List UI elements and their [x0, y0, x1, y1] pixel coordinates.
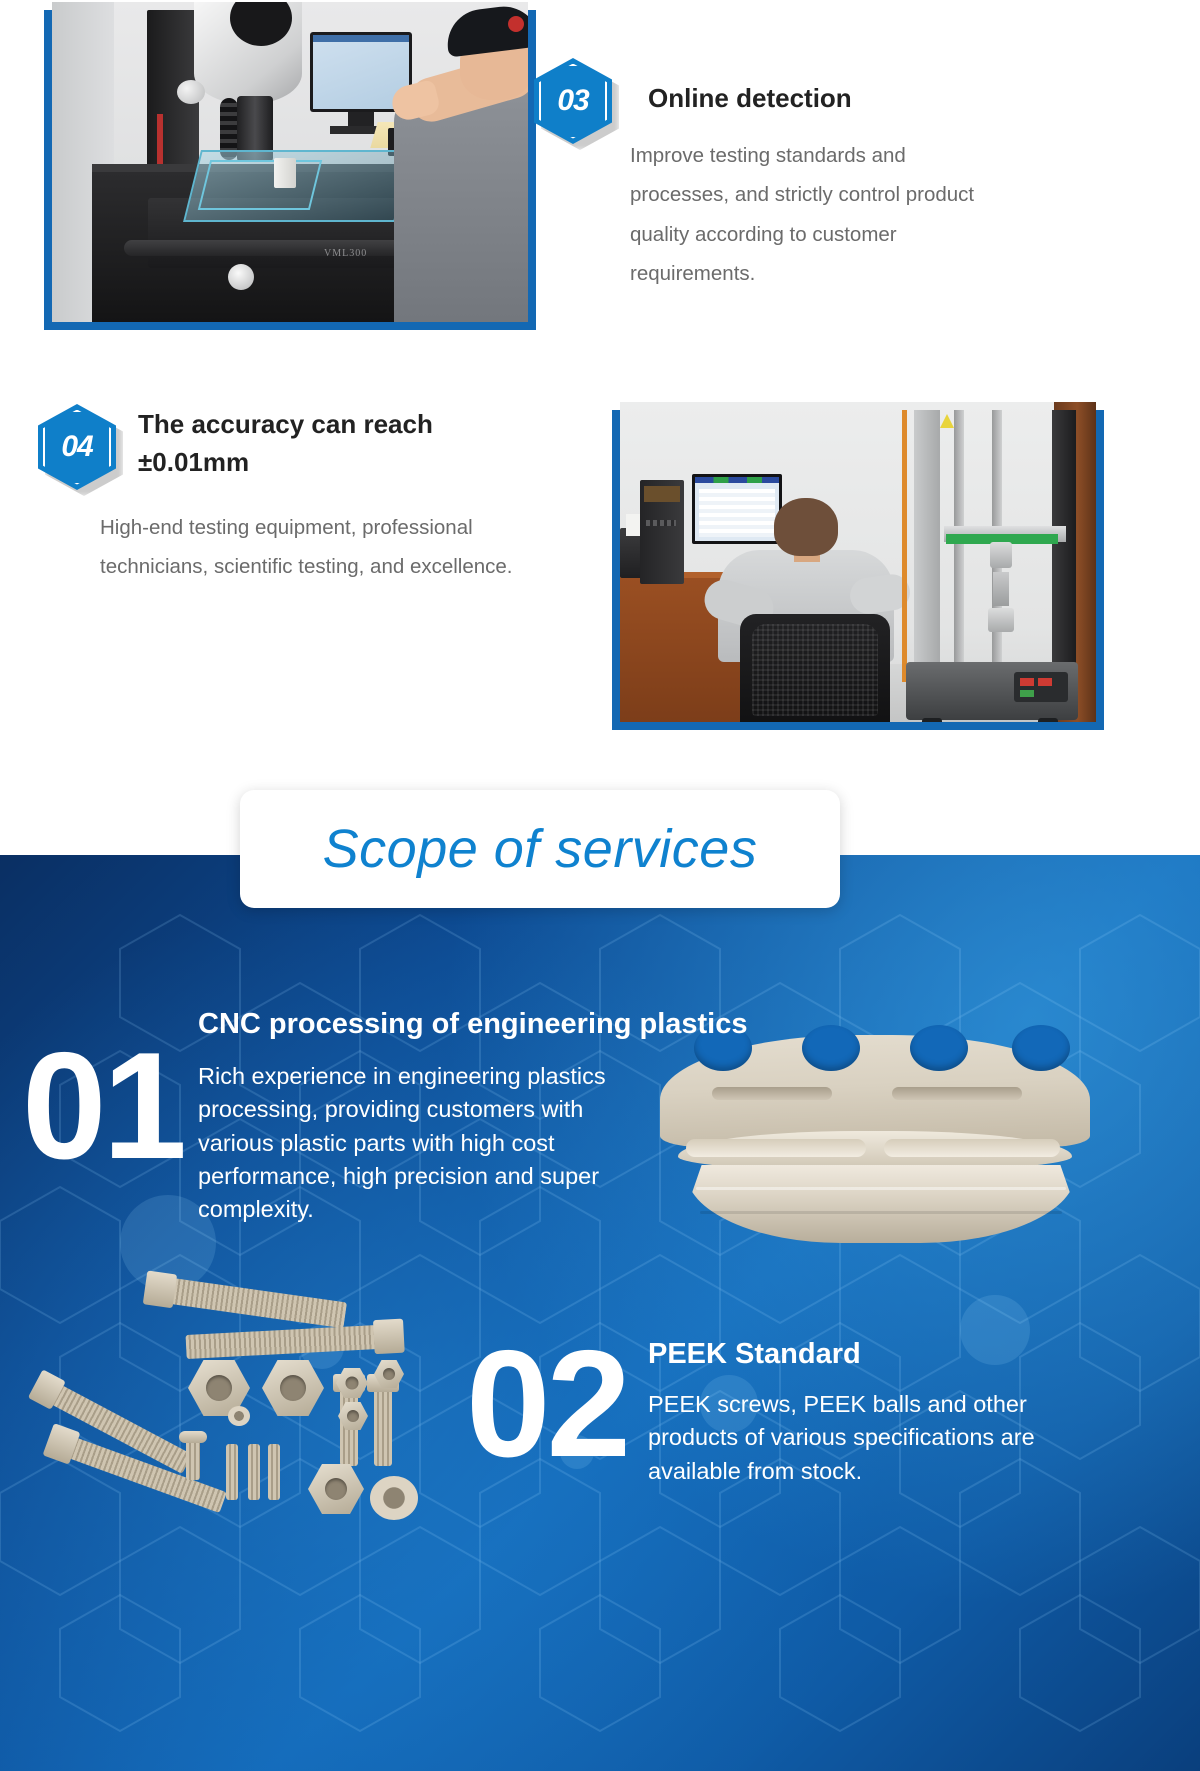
section-title: Scope of services [323, 818, 758, 880]
photo-image-tensile [620, 402, 1096, 722]
photo-peek-fasteners [40, 1268, 470, 1568]
photo-peek-machined-part [660, 1035, 1090, 1265]
part-base-shadow [700, 1211, 1062, 1214]
peek-nut [308, 1464, 364, 1514]
part-notch [1012, 1025, 1070, 1071]
photo-tensile-testing-machine [612, 410, 1104, 730]
nut-hole [280, 1375, 306, 1401]
glass-inner-edge [198, 160, 322, 210]
machine-focus-knob [177, 80, 205, 104]
marketing-page: VML300 03 Online detection Improve testi… [0, 0, 1200, 1771]
badge-number: 04 [38, 404, 116, 490]
item-number-01: 01 [22, 1030, 183, 1182]
chair-mesh-back [752, 624, 878, 716]
warning-label-icon [940, 414, 954, 428]
nut-hole [346, 1377, 359, 1390]
nut-hole [347, 1410, 359, 1422]
photo-optical-measuring-machine: VML300 [44, 10, 536, 330]
panel-button-red-2 [1038, 678, 1052, 686]
badge-04: 04 [38, 404, 116, 490]
workpiece-sample [274, 158, 296, 188]
cap-logo-icon [508, 16, 524, 32]
panel-button-green [1020, 690, 1034, 697]
item-heading-cnc: CNC processing of engineering plastics [198, 1008, 958, 1041]
technician-head [774, 498, 838, 556]
nut-hole [383, 1368, 395, 1380]
operator-shirt [394, 88, 528, 322]
machine-right-frame [1052, 410, 1076, 682]
universal-testing-machine [896, 410, 1082, 722]
item-body-cnc: Rich experience in engineering plastics … [198, 1060, 618, 1227]
bolt-head [373, 1319, 405, 1355]
peek-bolt-vertical [374, 1388, 392, 1466]
peek-screw-small [268, 1444, 280, 1500]
card-body-online-detection: Improve testing standards and processes,… [630, 136, 1010, 293]
operator [398, 2, 528, 322]
peek-washer-small [228, 1406, 250, 1426]
badge-number: 03 [534, 58, 612, 144]
peek-screw-small [248, 1444, 260, 1500]
software-toolbar [313, 35, 409, 42]
peek-nut [262, 1360, 324, 1416]
part-rib-left [686, 1139, 866, 1157]
peek-washer [370, 1476, 418, 1520]
grip-lower [988, 608, 1014, 632]
bolt-head [143, 1270, 177, 1308]
specimen-grips [988, 542, 1014, 636]
part-rib-right [884, 1139, 1060, 1157]
screw-shank [248, 1444, 260, 1500]
detection-section: VML300 03 Online detection Improve testi… [0, 0, 1200, 855]
nut-hole [206, 1375, 232, 1401]
screw-shank [268, 1444, 280, 1500]
machine-orange-stripe [902, 410, 907, 682]
peek-screw-small [186, 1440, 200, 1480]
item-number-02: 02 [466, 1328, 627, 1480]
panel-button-red-1 [1020, 678, 1034, 686]
badge-03: 03 [534, 58, 612, 144]
machine-left-frame [914, 410, 940, 682]
software-toolbar [695, 477, 779, 483]
bolt-shank [374, 1388, 392, 1466]
section-title-card: Scope of services [240, 790, 840, 908]
machine-model-label: VML300 [324, 248, 367, 259]
part-base [686, 1165, 1076, 1243]
photo-image-measuring: VML300 [52, 2, 528, 322]
nut-hole [325, 1478, 347, 1500]
card-body-accuracy: High-end testing equipment, professional… [100, 508, 520, 587]
pc-drive-bay [644, 486, 680, 502]
peek-screw-small [226, 1444, 238, 1500]
screw-head [179, 1431, 207, 1443]
peek-bolt [167, 1278, 347, 1329]
stage-handwheel [228, 264, 254, 290]
specimen [993, 572, 1009, 606]
part-slot [892, 1087, 1022, 1100]
bolt-shank [186, 1325, 379, 1359]
pc-front-ports [646, 520, 676, 526]
grip-upper [990, 542, 1012, 568]
card-heading-online-detection: Online detection [648, 80, 1048, 118]
part-slot [712, 1087, 832, 1100]
item-heading-peek: PEEK Standard [648, 1338, 1148, 1371]
machine-control-panel [1014, 672, 1068, 702]
part-base-highlight [696, 1187, 1066, 1190]
peek-bolt [186, 1325, 379, 1359]
screw-shank [226, 1444, 238, 1500]
machine-foot-left [922, 718, 942, 722]
item-body-peek: PEEK screws, PEEK balls and other produc… [648, 1388, 1048, 1488]
card-heading-accuracy: The accuracy can reach ±0.01mm [138, 406, 498, 481]
machine-column-1 [954, 410, 964, 680]
machine-foot-right [1038, 718, 1058, 722]
screw-shank [186, 1440, 200, 1480]
bolt-shank [167, 1278, 347, 1329]
